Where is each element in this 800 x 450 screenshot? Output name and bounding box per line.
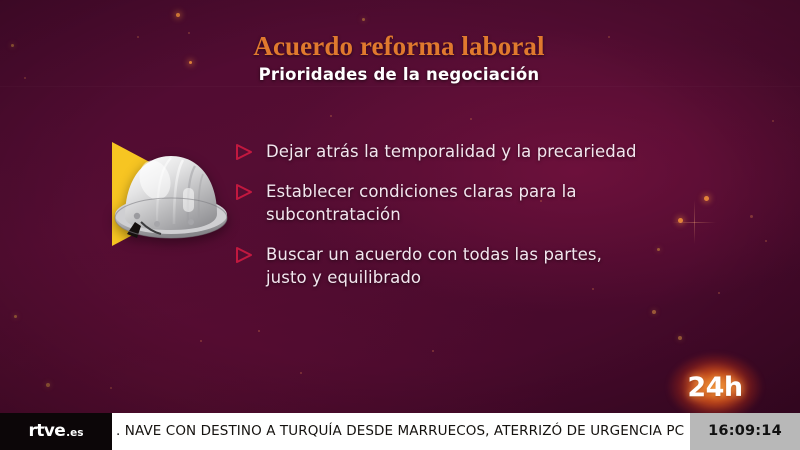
hard-hat-illustration: [98, 120, 248, 260]
particle-dot: [470, 118, 472, 120]
network-logo-suffix: .es: [66, 427, 83, 439]
particle-dot: [300, 372, 302, 374]
particle-dot: [718, 292, 720, 294]
particle-dot: [189, 61, 192, 64]
broadcast-screen: Acuerdo reforma laboral Prioridades de l…: [0, 0, 800, 450]
particle-dot: [608, 36, 610, 38]
particle-dot: [750, 215, 753, 218]
list-item: Buscar un acuerdo con todas las partes, …: [234, 243, 704, 289]
particle-dot: [432, 350, 434, 352]
particle-dot: [200, 340, 202, 342]
network-logo-main: rtve: [28, 421, 65, 441]
ticker-body: . NAVE CON DESTINO A TURQUÍA DESDE MARRU…: [112, 413, 690, 450]
particle-dot: [176, 13, 180, 17]
list-item: Dejar atrás la temporalidad y la precari…: [234, 140, 704, 163]
background-seam: [0, 86, 800, 87]
list-item-label: Buscar un acuerdo con todas las partes, …: [266, 243, 602, 289]
particle-dot: [652, 310, 656, 314]
particle-dot: [46, 383, 50, 387]
list-item: Establecer condiciones claras para la su…: [234, 180, 704, 226]
particle-dot: [765, 240, 767, 242]
news-ticker: rtve .es . NAVE CON DESTINO A TURQUÍA DE…: [0, 413, 800, 450]
clock-label: 16:09:14: [708, 423, 782, 439]
particle-dot: [362, 18, 365, 21]
particle-dot: [11, 44, 14, 47]
triangle-bullet-icon: [234, 143, 256, 163]
bullet-list: Dejar atrás la temporalidad y la precari…: [234, 140, 704, 306]
list-item-label: Dejar atrás la temporalidad y la precari…: [266, 140, 637, 163]
network-logo: rtve .es: [0, 413, 112, 450]
particle-dot: [330, 115, 332, 117]
particle-dot: [137, 36, 139, 38]
particle-dot: [24, 77, 26, 79]
channel-logo: 24h: [672, 362, 758, 412]
particle-dot: [14, 315, 17, 318]
triangle-bullet-icon: [234, 183, 256, 203]
particle-dot: [110, 387, 112, 389]
particle-dot: [258, 330, 260, 332]
hard-hat-icon: [111, 142, 233, 246]
particle-dot: [772, 120, 774, 122]
channel-logo-label: 24h: [687, 372, 742, 403]
ticker-headline: . NAVE CON DESTINO A TURQUÍA DESDE MARRU…: [116, 423, 684, 439]
particle-dot: [678, 336, 682, 340]
list-item-label: Establecer condiciones claras para la su…: [266, 180, 577, 226]
particle-dot: [188, 32, 190, 34]
clock: 16:09:14: [690, 413, 800, 450]
triangle-bullet-icon: [234, 246, 256, 266]
